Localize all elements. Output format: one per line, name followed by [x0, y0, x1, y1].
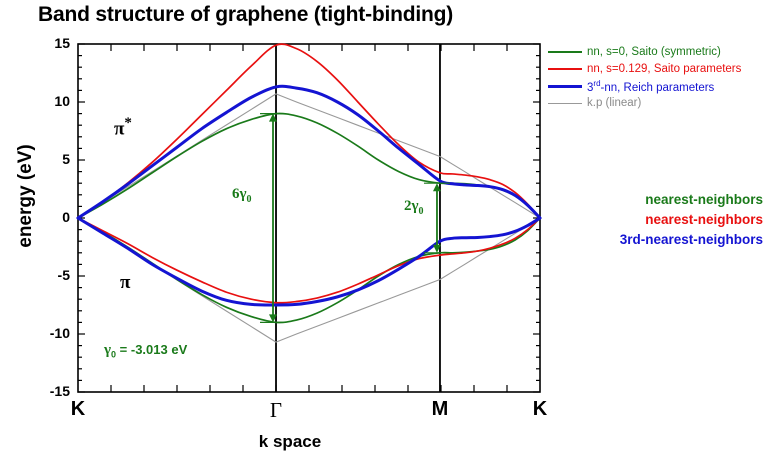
band-curve-third-nn	[78, 86, 540, 218]
x-tick-label-m-2: M	[410, 398, 470, 421]
band-curve-third-nn	[78, 218, 540, 305]
legend-item-green[interactable]: nn, s=0, Saito (symmetric)	[548, 44, 763, 60]
legend-swatch-line-gray	[548, 103, 582, 104]
legend-item-red[interactable]: nn, s=0.129, Saito parameters	[548, 61, 763, 77]
pi-star-label: π*	[114, 115, 132, 140]
y-tick-label: -5	[26, 267, 70, 283]
y-tick-label: 10	[26, 93, 70, 109]
legend-label-blue-sup: rd	[593, 79, 600, 88]
legend-swatch-line-green	[548, 51, 582, 53]
legend-swatch-line-blue	[548, 85, 582, 88]
figure-canvas: Band structure of graphene (tight-bindin…	[0, 0, 769, 466]
plot-frame	[78, 44, 540, 392]
legend-item-gray[interactable]: k.p (linear)	[548, 95, 763, 111]
x-tick-label-k-3: K	[510, 398, 570, 421]
y-tick-label: -10	[26, 325, 70, 341]
x-tick-label-k-0: K	[48, 398, 108, 421]
measurement-arrow-6gamma0	[260, 114, 286, 323]
legend-label-blue-post: -nn, Reich parameters	[601, 82, 715, 94]
y-tick-label: -15	[26, 383, 70, 399]
band-curve-nn-s0129	[78, 44, 540, 218]
legend-swatch-line-red	[548, 68, 582, 70]
pi-label: π	[120, 272, 130, 294]
band-curve-kp	[78, 94, 540, 218]
y-tick-label: 15	[26, 35, 70, 51]
legend-label-red: nn, s=0.129, Saito parameters	[587, 63, 741, 76]
legend-item-blue[interactable]: 3rd-nn, Reich parameters	[548, 78, 763, 94]
note-nearest-neighbors-red: nearest-neighbors	[533, 212, 763, 227]
y-tick-label: 5	[26, 151, 70, 167]
measurement-arrow-2gamma0	[424, 183, 450, 253]
legend: nn, s=0, Saito (symmetric) nn, s=0.129, …	[548, 44, 763, 112]
note-nearest-neighbors-green: nearest-neighbors	[533, 192, 763, 207]
y-tick-label: 0	[26, 209, 70, 225]
x-tick-label-gamma-1: Γ	[246, 398, 306, 423]
note-third-nearest-neighbors-blue: 3rd-nearest-neighbors	[533, 232, 763, 247]
arrow-label-6gamma0: 6γ0	[232, 186, 252, 205]
gamma0-value-note: γ0 = -3.013 eV	[104, 342, 187, 360]
band-curve-nn-s0	[78, 218, 540, 323]
arrow-label-2gamma0: 2γ0	[404, 198, 424, 217]
legend-label-green: nn, s=0, Saito (symmetric)	[587, 46, 721, 59]
legend-label-blue: 3rd-nn, Reich parameters	[587, 77, 714, 95]
legend-label-gray: k.p (linear)	[587, 97, 641, 110]
